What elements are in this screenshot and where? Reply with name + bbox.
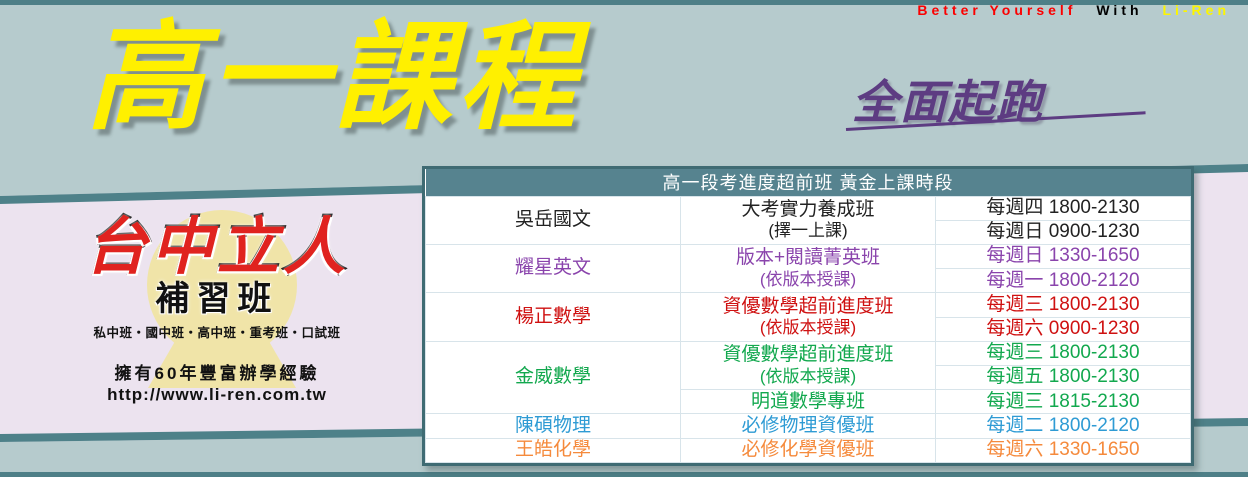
time-cell: 每週五 1800-2130 <box>936 366 1191 390</box>
tagline-part1: Better Yourself <box>917 2 1076 18</box>
time-cell: 每週二 1800-2120 <box>936 414 1191 438</box>
teacher-cell: 楊正數學 <box>426 293 681 341</box>
poster-canvas: Better Yourself With Li-Ren 高一課程 全面起跑 台中… <box>0 0 1248 477</box>
time-cell: 每週三 1815-2130 <box>936 390 1191 414</box>
course-cell: 明道數學專班 <box>681 390 936 414</box>
schedule-panel: 高一段考進度超前班 黃金上課時段 吳岳國文大考實力養成班(擇一上課)每週四 18… <box>422 166 1194 466</box>
teacher-cell: 耀星英文 <box>426 244 681 292</box>
time-cell: 每週三 1800-2130 <box>936 341 1191 365</box>
teacher-cell: 王皓化學 <box>426 438 681 462</box>
table-header-row: 高一段考進度超前班 黃金上課時段 <box>426 169 1191 196</box>
time-cell: 每週六 1330-1650 <box>936 438 1191 462</box>
course-cell: 資優數學超前進度班(依版本授課) <box>681 293 936 341</box>
table-row: 陳碩物理必修物理資優班每週二 1800-2120 <box>426 414 1191 438</box>
logo-name: 台中立人 <box>52 216 382 278</box>
course-cell: 必修化學資優班 <box>681 438 936 462</box>
course-cell: 版本+閱讀菁英班(依版本授課) <box>681 244 936 292</box>
schedule-header-title: 高一段考進度超前班 黃金上課時段 <box>426 169 1191 196</box>
table-row: 楊正數學資優數學超前進度班(依版本授課)每週三 1800-2130 <box>426 293 1191 317</box>
tagline-part2: With <box>1096 2 1142 18</box>
logo-class-list: 私中班・國中班・高中班・重考班・口試班 <box>52 322 382 341</box>
teacher-cell: 陳碩物理 <box>426 414 681 438</box>
time-cell: 每週四 1800-2130 <box>936 196 1191 220</box>
time-cell: 每週日 0900-1230 <box>936 220 1191 244</box>
brand-logo: 台中立人 補習班 私中班・國中班・高中班・重考班・口試班 擁有60年豐富辦學經驗… <box>52 216 382 405</box>
course-cell: 必修物理資優班 <box>681 414 936 438</box>
table-row: 王皓化學必修化學資優班每週六 1330-1650 <box>426 438 1191 462</box>
teacher-cell: 金威數學 <box>426 341 681 414</box>
schedule-body: 吳岳國文大考實力養成班(擇一上課)每週四 1800-2130每週日 0900-1… <box>426 196 1191 463</box>
time-cell: 每週六 0900-1230 <box>936 317 1191 341</box>
course-note: (依版本授課) <box>685 367 931 387</box>
teacher-cell: 吳岳國文 <box>426 196 681 244</box>
logo-website-url: http://www.li-ren.com.tw <box>52 385 382 405</box>
schedule-table: 高一段考進度超前班 黃金上課時段 吳岳國文大考實力養成班(擇一上課)每週四 18… <box>425 169 1191 463</box>
bottom-rule <box>0 472 1248 477</box>
course-cell: 資優數學超前進度班(依版本授課) <box>681 341 936 389</box>
time-cell: 每週三 1800-2130 <box>936 293 1191 317</box>
course-note: (依版本授課) <box>685 318 931 338</box>
course-note: (擇一上課) <box>685 221 931 241</box>
course-note: (依版本授課) <box>685 270 931 290</box>
logo-experience: 擁有60年豐富辦學經驗 <box>52 359 382 384</box>
course-cell: 大考實力養成班(擇一上課) <box>681 196 936 244</box>
table-row: 金威數學資優數學超前進度班(依版本授課)每週三 1800-2130 <box>426 341 1191 365</box>
time-cell: 每週一 1800-2120 <box>936 269 1191 293</box>
logo-subname: 補習班 <box>52 282 382 316</box>
time-cell: 每週日 1330-1650 <box>936 244 1191 268</box>
table-row: 吳岳國文大考實力養成班(擇一上課)每週四 1800-2130 <box>426 196 1191 220</box>
tagline-part3: Li-Ren <box>1162 2 1230 18</box>
table-row: 耀星英文版本+閱讀菁英班(依版本授課)每週日 1330-1650 <box>426 244 1191 268</box>
page-title: 高一課程 <box>86 14 582 141</box>
